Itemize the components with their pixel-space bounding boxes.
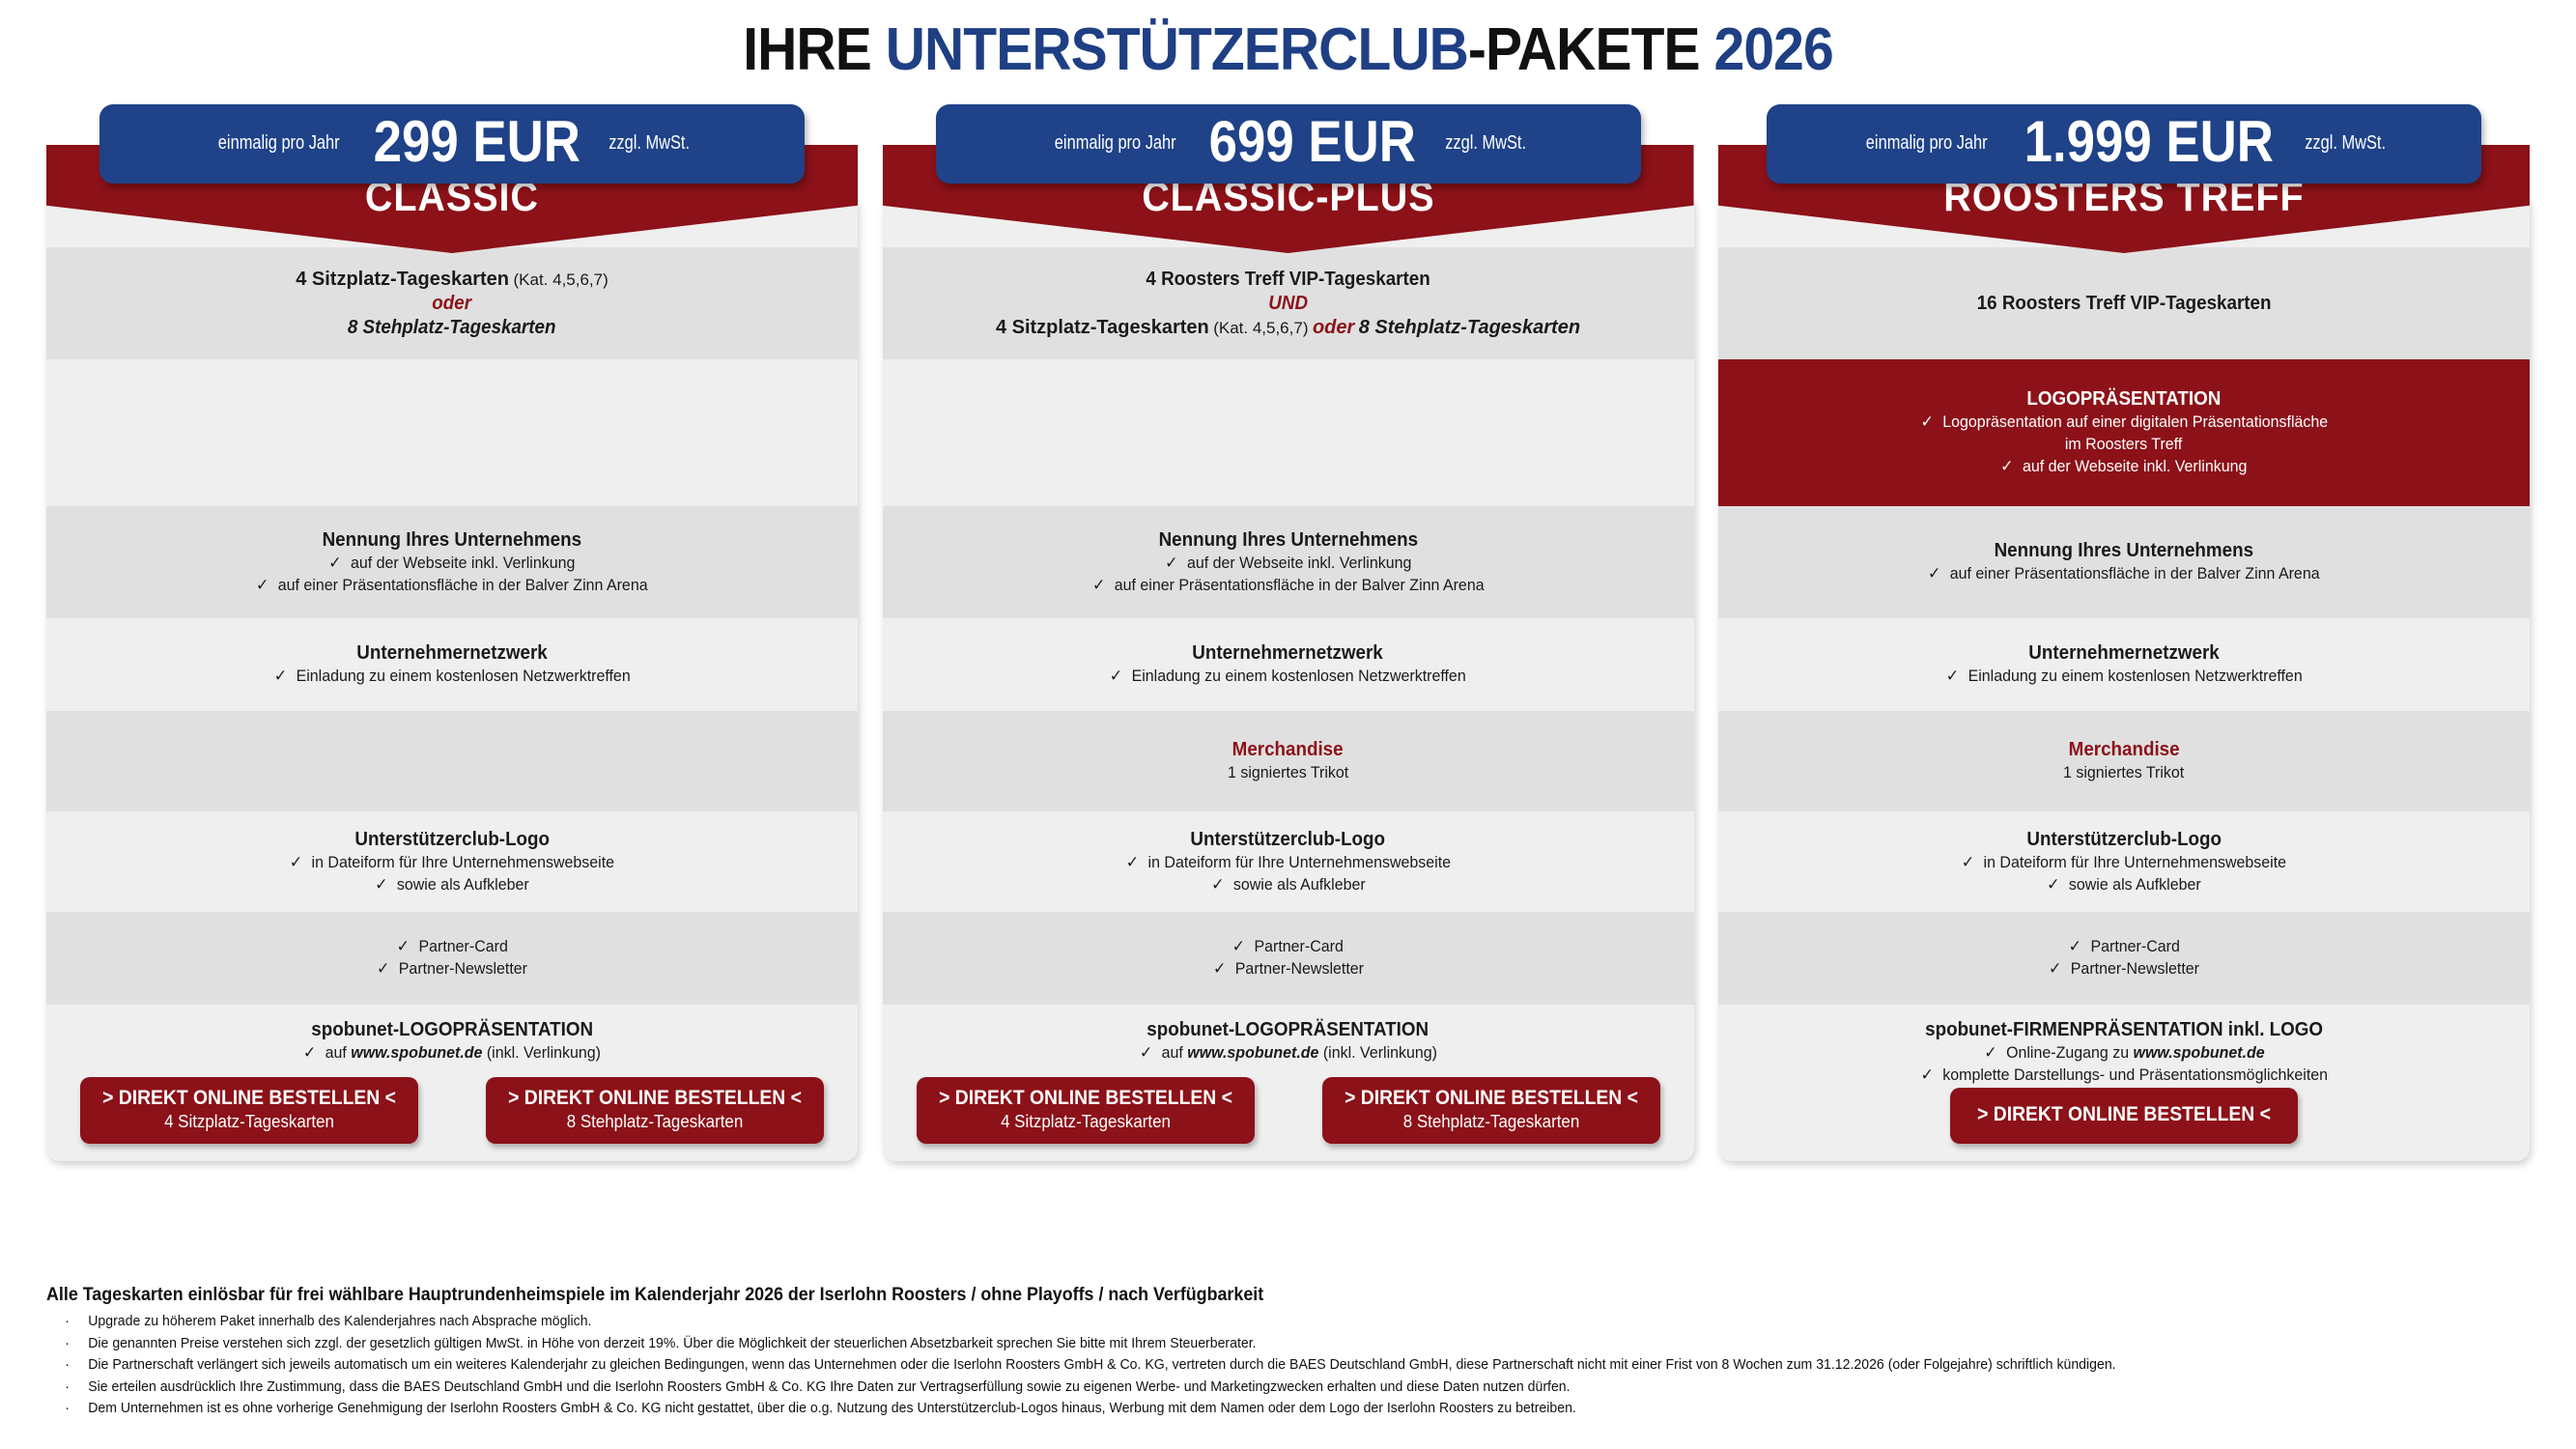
club-logo-item-1: in Dateiform für Ihre Unternehmenswebsei…: [1984, 853, 2287, 871]
club-logo-item-2: sowie als Aufkleber: [397, 875, 529, 894]
order-button-bar-roosters-treff: > DIREKT ONLINE BESTELLEN <: [1718, 1088, 2530, 1144]
footnote-item: · Upgrade zu höherem Paket innerhalb des…: [46, 1311, 2389, 1333]
check-icon: ✓: [1962, 853, 1984, 871]
order-button-label: > DIREKT ONLINE BESTELLEN <: [935, 1087, 1235, 1110]
spobunet-item-2: komplette Darstellungs- und Präsentation…: [1942, 1065, 2328, 1084]
row-tickets: 4 Roosters Treff VIP-Tageskarten UND 4 S…: [883, 247, 1694, 359]
price-badge-roosters-treff: einmalig pro Jahr 1.999 EUR zzgl. MwSt.: [1767, 104, 2481, 184]
tickets-line1: 16 Roosters Treff VIP-Tageskarten: [1977, 292, 2272, 316]
row-company-mention: Nennung Ihres Unternehmens ✓auf der Webs…: [883, 506, 1694, 618]
row-tickets: 16 Roosters Treff VIP-Tageskarten: [1718, 247, 2530, 359]
club-logo-item-2: sowie als Aufkleber: [1232, 875, 1365, 894]
price-vat-note: zzgl. MwSt.: [2306, 132, 2387, 156]
check-icon: ✓: [377, 959, 399, 978]
order-button-standing[interactable]: > DIREKT ONLINE BESTELLEN < 8 Stehplatz-…: [1322, 1077, 1660, 1144]
check-icon: ✓: [1125, 853, 1147, 871]
footnote-text: Dem Unternehmen ist es ohne vorherige Ge…: [88, 1398, 2389, 1420]
merchandise-title: Merchandise: [2069, 738, 2180, 762]
network-title: Unternehmernetzwerk: [2028, 641, 2219, 666]
tickets-line1-note: (Kat. 4,5,6,7): [513, 270, 608, 289]
order-button-bar-classic-plus: > DIREKT ONLINE BESTELLEN < 4 Sitzplatz-…: [883, 1077, 1694, 1144]
spobunet-link: www.spobunet.de: [1187, 1043, 1318, 1062]
order-button-standing[interactable]: > DIREKT ONLINE BESTELLEN < 8 Stehplatz-…: [486, 1077, 824, 1144]
price-value: 299 EUR: [373, 113, 580, 175]
tickets-line2-connector: oder: [1313, 317, 1354, 338]
check-icon: ✓: [274, 667, 297, 685]
pricing-infographic: IHRE UNTERSTÜTZERCLUB-PAKETE 2026 einmal…: [0, 0, 2576, 1449]
order-button-sublabel: 4 Sitzplatz-Tageskarten: [96, 1112, 403, 1132]
spobunet-link: www.spobunet.de: [2133, 1043, 2264, 1062]
row-logo-presentation: LOGOPRÄSENTATION ✓Logopräsentation auf e…: [1718, 359, 2530, 506]
club-logo-title: Unterstützerclub-Logo: [1191, 828, 1386, 852]
club-logo-title: Unterstützerclub-Logo: [2026, 828, 2222, 852]
check-icon: ✓: [1946, 667, 1968, 685]
row-club-logo: Unterstützerclub-Logo ✓in Dateiform für …: [46, 811, 858, 912]
price-vat-note: zzgl. MwSt.: [609, 132, 691, 156]
package-name: CLASSIC: [365, 174, 539, 253]
order-button-sublabel: 4 Sitzplatz-Tageskarten: [932, 1112, 1239, 1132]
row-company-mention: Nennung Ihres Unternehmens ✓auf einer Pr…: [1718, 506, 2530, 618]
row-network: Unternehmernetzwerk ✓Einladung zu einem …: [883, 618, 1694, 711]
row-club-logo: Unterstützerclub-Logo ✓in Dateiform für …: [883, 811, 1694, 912]
order-button-label: > DIREKT ONLINE BESTELLEN <: [1969, 1103, 2279, 1126]
check-icon: ✓: [2000, 457, 2023, 475]
spobunet-title: spobunet-LOGOPRÄSENTATION: [1147, 1018, 1430, 1042]
price-badge-classic: einmalig pro Jahr 299 EUR zzgl. MwSt.: [99, 104, 805, 184]
row-partner: ✓Partner-Card ✓Partner-Newsletter: [46, 912, 858, 1005]
package-card-classic: 4 Sitzplatz-Tageskarten (Kat. 4,5,6,7) o…: [46, 193, 858, 1161]
spobunet-item-1-prefix: Online-Zugang zu: [2006, 1043, 2133, 1062]
spobunet-title: spobunet-FIRMENPRÄSENTATION inkl. LOGO: [1925, 1018, 2323, 1042]
price-value: 699 EUR: [1209, 113, 1416, 175]
check-icon: ✓: [1165, 554, 1187, 572]
price-prefix: einmalig pro Jahr: [1055, 132, 1176, 156]
package-column-classic: einmalig pro Jahr 299 EUR zzgl. MwSt. CL…: [46, 104, 858, 1161]
footnote-item: · Sie erteilen ausdrücklich Ihre Zustimm…: [46, 1377, 2389, 1399]
order-button-seats[interactable]: > DIREKT ONLINE BESTELLEN < 4 Sitzplatz-…: [80, 1077, 418, 1144]
row-partner: ✓Partner-Card ✓Partner-Newsletter: [883, 912, 1694, 1005]
tickets-connector: UND: [1268, 292, 1308, 316]
package-column-roosters-treff: einmalig pro Jahr 1.999 EUR zzgl. MwSt. …: [1718, 104, 2530, 1161]
title-part-year: 2026: [1714, 16, 1833, 83]
tickets-line2-b: 8 Stehplatz-Tageskarten: [1359, 317, 1580, 338]
mention-title: Nennung Ihres Unternehmens: [1995, 539, 2253, 563]
partner-item-2: Partner-Newsletter: [399, 959, 527, 978]
row-company-mention: Nennung Ihres Unternehmens ✓auf der Webs…: [46, 506, 858, 618]
network-title: Unternehmernetzwerk: [356, 641, 547, 666]
mention-item-1: auf der Webseite inkl. Verlinkung: [1187, 554, 1411, 572]
tickets-line1: 4 Roosters Treff VIP-Tageskarten: [1146, 268, 1430, 292]
check-icon: ✓: [2047, 875, 2069, 894]
footnote-item: · Dem Unternehmen ist es ohne vorherige …: [46, 1398, 2389, 1420]
mention-title: Nennung Ihres Unternehmens: [323, 528, 581, 553]
row-partner: ✓Partner-Card ✓Partner-Newsletter: [1718, 912, 2530, 1005]
price-vat-note: zzgl. MwSt.: [1445, 132, 1526, 156]
mention-item-2: auf einer Präsentationsfläche in der Bal…: [1114, 576, 1484, 594]
partner-item-1: Partner-Card: [1255, 937, 1344, 955]
price-prefix: einmalig pro Jahr: [218, 132, 340, 156]
spobunet-item-prefix: auf: [1161, 1043, 1187, 1062]
bullet-icon: ·: [46, 1311, 88, 1333]
check-icon: ✓: [1110, 667, 1132, 685]
mention-item-2: auf einer Präsentationsfläche in der Bal…: [278, 576, 648, 594]
check-icon: ✓: [328, 554, 351, 572]
check-icon: ✓: [396, 937, 418, 955]
row-merchandise: Merchandise 1 signiertes Trikot: [1718, 711, 2530, 811]
club-logo-item-1: in Dateiform für Ihre Unternehmenswebsei…: [312, 853, 615, 871]
footnote-text: Sie erteilen ausdrücklich Ihre Zustimmun…: [88, 1377, 2389, 1399]
package-column-classic-plus: einmalig pro Jahr 699 EUR zzgl. MwSt. CL…: [883, 104, 1694, 1161]
spobunet-title: spobunet-LOGOPRÄSENTATION: [311, 1018, 593, 1042]
logo-presentation-title: LOGOPRÄSENTATION: [2027, 387, 2222, 412]
check-icon: ✓: [1212, 959, 1234, 978]
title-part-pakete: -PAKETE: [1468, 16, 1714, 83]
mention-item-1: auf der Webseite inkl. Verlinkung: [351, 554, 575, 572]
logo-presentation-item-1b: im Roosters Treff: [2065, 434, 2182, 456]
check-icon: ✓: [256, 576, 278, 594]
footnote-item: · Die genannten Preise verstehen sich zz…: [46, 1333, 2389, 1355]
tickets-connector: oder: [433, 292, 472, 316]
mention-title: Nennung Ihres Unternehmens: [1158, 528, 1417, 553]
logo-presentation-item-2: auf der Webseite inkl. Verlinkung: [2023, 457, 2247, 475]
footnote-item: · Die Partnerschaft verlängert sich jewe…: [46, 1354, 2389, 1377]
order-button-sublabel: 8 Stehplatz-Tageskarten: [501, 1112, 808, 1132]
spobunet-item-suffix: (inkl. Verlinkung): [1318, 1043, 1437, 1062]
check-icon: ✓: [1232, 937, 1255, 955]
tickets-line2-note: (Kat. 4,5,6,7): [1213, 319, 1308, 337]
order-button-main[interactable]: > DIREKT ONLINE BESTELLEN <: [1950, 1088, 2298, 1144]
club-logo-item-1: in Dateiform für Ihre Unternehmenswebsei…: [1147, 853, 1451, 871]
network-item-1: Einladung zu einem kostenlosen Netzwerkt…: [1132, 667, 1466, 685]
mention-item-1: auf einer Präsentationsfläche in der Bal…: [1950, 564, 2320, 582]
spobunet-item-suffix: (inkl. Verlinkung): [483, 1043, 602, 1062]
club-logo-title: Unterstützerclub-Logo: [354, 828, 550, 852]
network-item-1: Einladung zu einem kostenlosen Netzwerkt…: [296, 667, 630, 685]
footnote-text: Upgrade zu höherem Paket innerhalb des K…: [88, 1311, 2389, 1333]
order-button-seats[interactable]: > DIREKT ONLINE BESTELLEN < 4 Sitzplatz-…: [917, 1077, 1255, 1144]
partner-item-1: Partner-Card: [418, 937, 507, 955]
order-button-sublabel: 8 Stehplatz-Tageskarten: [1338, 1112, 1645, 1132]
row-merchandise: Merchandise 1 signiertes Trikot: [883, 711, 1694, 811]
order-button-label: > DIREKT ONLINE BESTELLEN <: [505, 1087, 806, 1110]
tickets-line1: 4 Sitzplatz-Tageskarten: [296, 269, 509, 290]
spobunet-item-prefix: auf: [326, 1043, 352, 1062]
order-button-label: > DIREKT ONLINE BESTELLEN <: [99, 1087, 400, 1110]
page-title: IHRE UNTERSTÜTZERCLUB-PAKETE 2026: [103, 0, 2474, 84]
price-value: 1.999 EUR: [2024, 113, 2273, 175]
price-badge-classic-plus: einmalig pro Jahr 699 EUR zzgl. MwSt.: [936, 104, 1641, 184]
package-card-roosters-treff: 16 Roosters Treff VIP-Tageskarten LOGOPR…: [1718, 193, 2530, 1161]
check-icon: ✓: [1211, 875, 1233, 894]
network-title: Unternehmernetzwerk: [1193, 641, 1383, 666]
check-icon: ✓: [1920, 412, 1942, 431]
row-club-logo: Unterstützerclub-Logo ✓in Dateiform für …: [1718, 811, 2530, 912]
row-network: Unternehmernetzwerk ✓Einladung zu einem …: [46, 618, 858, 711]
row-logo-presentation-empty: [46, 359, 858, 506]
club-logo-item-2: sowie als Aufkleber: [2069, 875, 2201, 894]
check-icon: ✓: [1092, 576, 1115, 594]
title-part-unterstuetzerclub: UNTERSTÜTZERCLUB: [886, 16, 1468, 83]
check-icon: ✓: [1928, 564, 1950, 582]
logo-presentation-item-1a: Logopräsentation auf einer digitalen Prä…: [1942, 412, 2328, 431]
network-item-1: Einladung zu einem kostenlosen Netzwerkt…: [1967, 667, 2302, 685]
row-tickets: 4 Sitzplatz-Tageskarten (Kat. 4,5,6,7) o…: [46, 247, 858, 359]
bullet-icon: ·: [46, 1333, 88, 1355]
check-icon: ✓: [1920, 1065, 1942, 1084]
row-network: Unternehmernetzwerk ✓Einladung zu einem …: [1718, 618, 2530, 711]
package-columns: einmalig pro Jahr 299 EUR zzgl. MwSt. CL…: [0, 104, 2576, 1161]
footnote-text: Die Partnerschaft verlängert sich jeweil…: [88, 1354, 2389, 1377]
tickets-line2: 8 Stehplatz-Tageskarten: [348, 316, 556, 340]
check-icon: ✓: [2049, 959, 2071, 978]
check-icon: ✓: [1139, 1043, 1161, 1062]
check-icon: ✓: [1984, 1043, 2006, 1062]
merchandise-detail: 1 signiertes Trikot: [1228, 762, 1348, 784]
spobunet-link: www.spobunet.de: [351, 1043, 482, 1062]
footnotes-headline: Alle Tageskarten einlösbar für frei wähl…: [46, 1285, 2389, 1306]
check-icon: ✓: [375, 875, 397, 894]
row-logo-presentation-empty: [883, 359, 1694, 506]
order-button-label: > DIREKT ONLINE BESTELLEN <: [1341, 1087, 1641, 1110]
footnotes: Alle Tageskarten einlösbar für frei wähl…: [46, 1285, 2538, 1420]
check-icon: ✓: [2068, 937, 2090, 955]
check-icon: ✓: [303, 1043, 326, 1062]
package-card-classic-plus: 4 Roosters Treff VIP-Tageskarten UND 4 S…: [883, 193, 1694, 1161]
partner-item-1: Partner-Card: [2090, 937, 2179, 955]
merchandise-title: Merchandise: [1232, 738, 1344, 762]
row-merchandise-empty: [46, 711, 858, 811]
title-part-ihre: IHRE: [743, 16, 886, 83]
footnote-text: Die genannten Preise verstehen sich zzgl…: [88, 1333, 2389, 1355]
partner-item-2: Partner-Newsletter: [1234, 959, 1363, 978]
tickets-line2-a: 4 Sitzplatz-Tageskarten: [996, 317, 1209, 338]
bullet-icon: ·: [46, 1377, 88, 1399]
merchandise-detail: 1 signiertes Trikot: [2063, 762, 2184, 784]
bullet-icon: ·: [46, 1354, 88, 1377]
price-prefix: einmalig pro Jahr: [1866, 132, 1988, 156]
check-icon: ✓: [290, 853, 312, 871]
partner-item-2: Partner-Newsletter: [2071, 959, 2199, 978]
order-button-bar-classic: > DIREKT ONLINE BESTELLEN < 4 Sitzplatz-…: [46, 1077, 858, 1144]
bullet-icon: ·: [46, 1398, 88, 1420]
